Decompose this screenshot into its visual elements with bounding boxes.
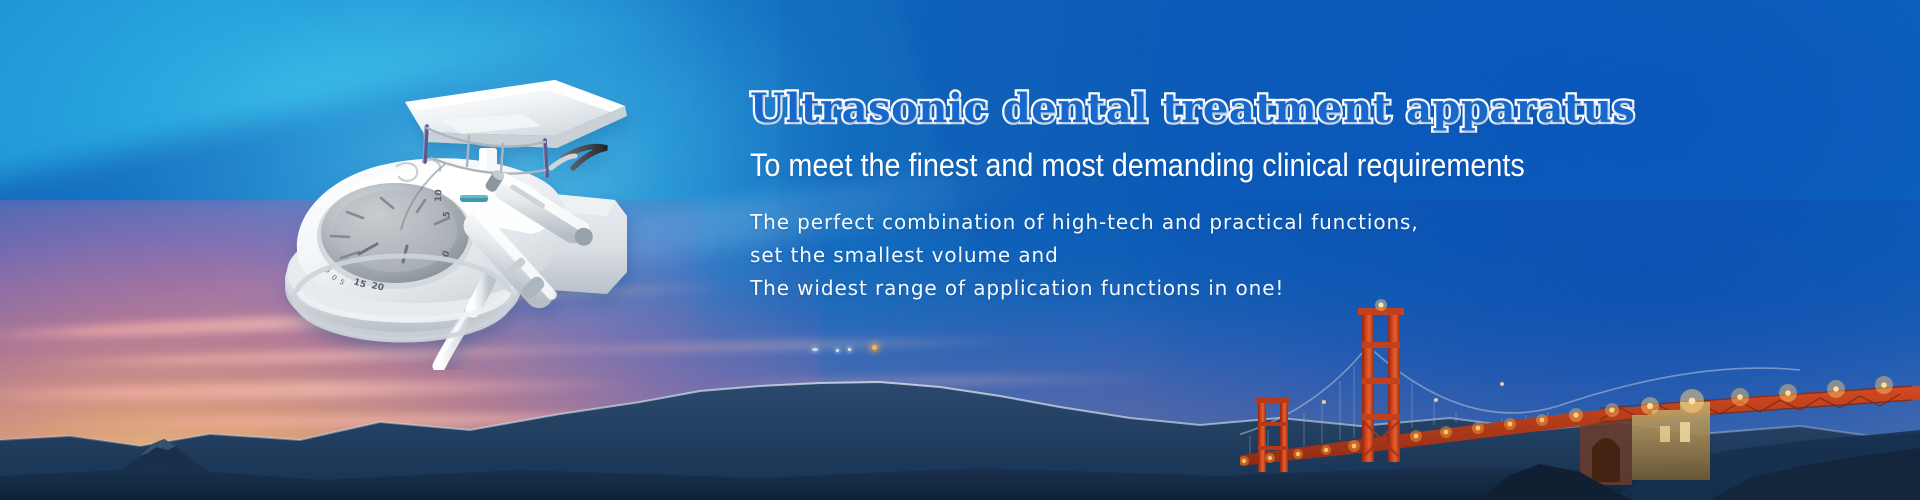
ridge-light	[812, 348, 818, 351]
page-title: Ultrasonic dental treatment apparatus	[750, 86, 1850, 132]
body-line-2: set the smallest volume and	[750, 239, 1850, 272]
product-hero-banner: 0 5 10 15 20 5 0 5	[0, 0, 1920, 500]
ridge-light	[848, 348, 851, 351]
banner-copy-block: Ultrasonic dental treatment apparatus To…	[750, 86, 1850, 305]
body-line-3: The widest range of application function…	[750, 272, 1850, 305]
ridge-light	[872, 345, 877, 350]
ultrasonic-scaler-device-photo: 0 5 10 15 20 5 0 5	[255, 40, 675, 370]
body-line-1: The perfect combination of high-tech and…	[750, 206, 1850, 239]
banner-body-text: The perfect combination of high-tech and…	[750, 206, 1850, 305]
banner-subheadline: To meet the finest and most demanding cl…	[750, 146, 1740, 184]
ridge-light	[836, 349, 839, 352]
dial-label-10: 10	[434, 189, 444, 202]
